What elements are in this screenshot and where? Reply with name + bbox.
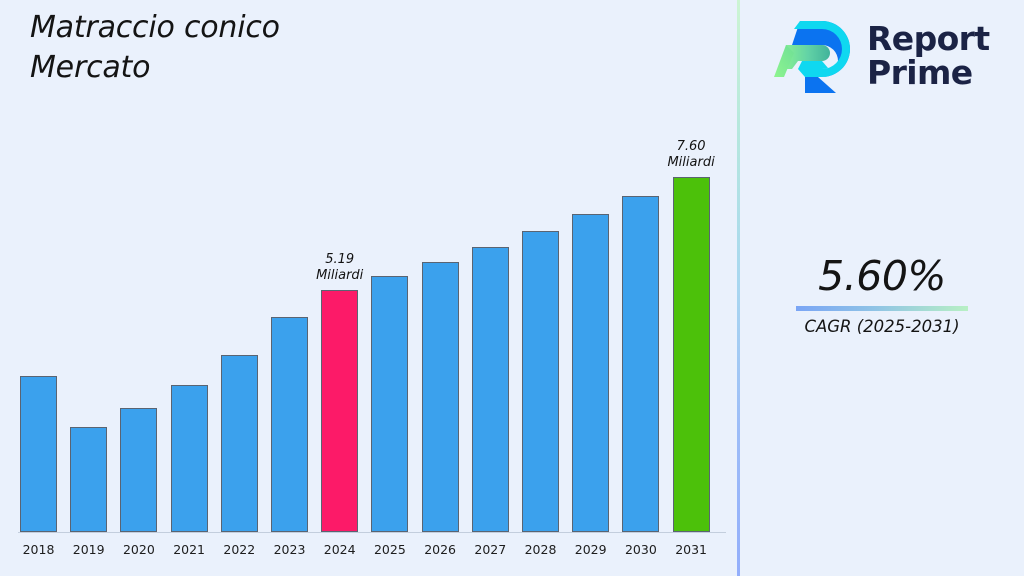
x-tick-2024: 2024 xyxy=(315,542,365,558)
x-tick-2023: 2023 xyxy=(265,542,315,558)
cagr-caption: CAGR (2025-2031) xyxy=(740,316,1024,338)
x-tick-2030: 2030 xyxy=(616,542,666,558)
x-axis-line xyxy=(18,532,726,533)
bar-2031 xyxy=(673,177,710,532)
bar-2027 xyxy=(472,247,509,532)
cagr-divider xyxy=(796,306,968,311)
bar-2018 xyxy=(20,376,57,532)
report-prime-logo-mark xyxy=(772,19,856,93)
bar-2024 xyxy=(321,290,358,532)
bar-2030 xyxy=(622,196,659,532)
x-tick-2027: 2027 xyxy=(465,542,515,558)
bar-value-label-2031: 7.60 Miliardi xyxy=(636,139,746,171)
x-tick-2026: 2026 xyxy=(415,542,465,558)
x-tick-2025: 2025 xyxy=(365,542,415,558)
x-tick-2019: 2019 xyxy=(64,542,114,558)
x-tick-2031: 2031 xyxy=(666,542,716,558)
bar-2021 xyxy=(171,385,208,532)
x-tick-2021: 2021 xyxy=(164,542,214,558)
bar-2022 xyxy=(221,355,258,533)
brand-logo: Report Prime xyxy=(772,10,1004,102)
x-tick-2022: 2022 xyxy=(214,542,264,558)
plot-area: 5.19 Miliardi7.60 Miliardi xyxy=(0,0,738,576)
cagr-value: 5.60% xyxy=(740,252,1024,300)
x-tick-2020: 2020 xyxy=(114,542,164,558)
x-tick-2028: 2028 xyxy=(516,542,566,558)
x-tick-2029: 2029 xyxy=(566,542,616,558)
bar-2023 xyxy=(271,317,308,532)
cagr-block: 5.60% CAGR (2025-2031) xyxy=(740,252,1024,338)
bar-2026 xyxy=(422,262,459,532)
bar-2029 xyxy=(572,214,609,532)
x-tick-2018: 2018 xyxy=(14,542,64,558)
bar-2025 xyxy=(371,276,408,532)
brand-logo-text: Report Prime xyxy=(867,22,990,90)
bar-2020 xyxy=(120,408,157,532)
right-panel: Report Prime 5.60% CAGR (2025-2031) xyxy=(740,0,1024,576)
bar-2019 xyxy=(70,427,107,532)
chart-infographic: Matraccio conico Mercato 5.19 Miliardi7.… xyxy=(0,0,1024,576)
bar-2028 xyxy=(522,231,559,532)
chart-panel: Matraccio conico Mercato 5.19 Miliardi7.… xyxy=(0,0,738,576)
